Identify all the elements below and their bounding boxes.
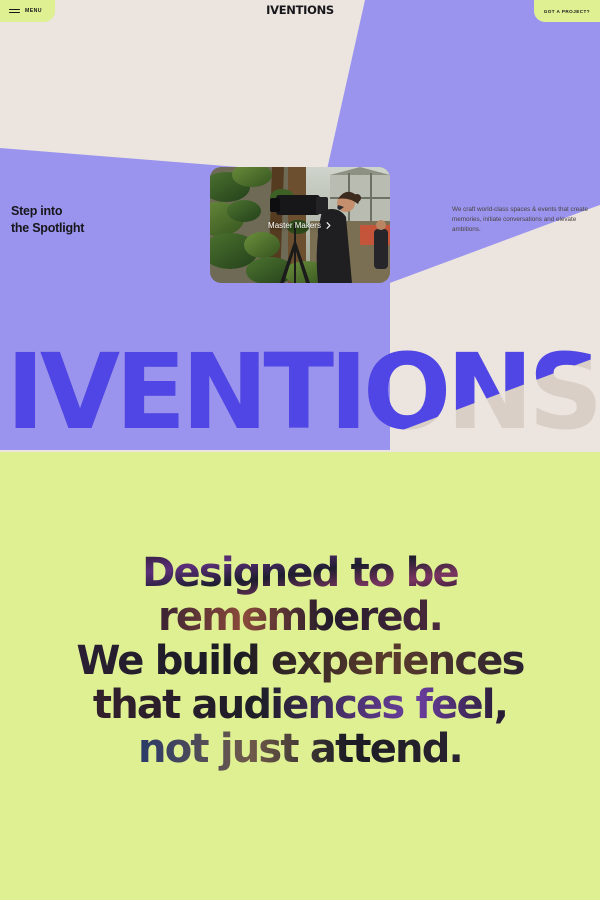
- card-label-group: Master Makers: [210, 167, 390, 283]
- headline-line-2: remembered.: [158, 594, 442, 640]
- statement-headline: Designed to be remembered. We build expe…: [0, 550, 600, 790]
- hero-heading: Step into the Spotlight: [11, 203, 84, 236]
- site-header: MENU IVENTIONS GOT A PROJECT?: [0, 0, 600, 22]
- chevron-right-icon: [325, 222, 332, 229]
- hero-section: IVENTIONS IVENTIONS Step into the Spotli…: [0, 0, 600, 452]
- headline-line-5: not just attend.: [138, 726, 462, 772]
- hero-wordmark: IVENTIONS IVENTIONS: [0, 340, 600, 452]
- got-a-project-label: GOT A PROJECT?: [544, 9, 590, 14]
- featured-media-card[interactable]: Master Makers: [210, 167, 390, 283]
- statement-section: Designed to be remembered. We build expe…: [0, 452, 600, 900]
- headline-line-4: that audiences feel,: [93, 682, 507, 728]
- hero-description: We craft world-class spaces & events tha…: [452, 205, 592, 236]
- headline-line-3: We build experiences: [76, 638, 523, 684]
- hero-heading-line-1: Step into: [11, 203, 84, 220]
- hero-heading-line-2: the Spotlight: [11, 220, 84, 237]
- got-a-project-button[interactable]: GOT A PROJECT?: [534, 0, 600, 22]
- card-label-text: Master Makers: [268, 221, 321, 230]
- svg-text:IVENTIONS: IVENTIONS: [6, 340, 598, 452]
- site-logo[interactable]: IVENTIONS: [0, 3, 600, 17]
- wordmark-indigo-text: IVENTIONS: [0, 340, 600, 452]
- headline-line-1: Designed to be: [142, 550, 458, 596]
